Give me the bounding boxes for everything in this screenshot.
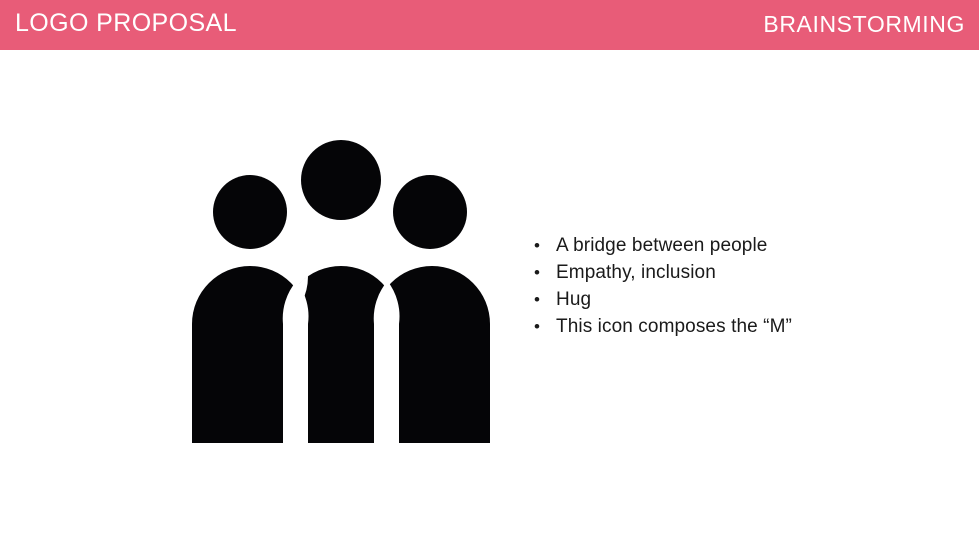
bullet-marker-icon: • bbox=[528, 232, 556, 259]
center-head-icon bbox=[301, 140, 381, 220]
slide-section-label: BRAINSTORMING bbox=[763, 10, 965, 38]
list-item: • A bridge between people bbox=[528, 232, 928, 259]
list-item: • Hug bbox=[528, 286, 928, 313]
bullet-list: • A bridge between people • Empathy, inc… bbox=[528, 232, 928, 340]
logo-mark bbox=[180, 130, 505, 455]
slide-canvas: LOGO PROPOSAL BRAINSTORMING bbox=[0, 0, 979, 549]
bullet-marker-icon: • bbox=[528, 313, 556, 340]
m-counter-right bbox=[374, 281, 400, 443]
three-people-m-logo-icon bbox=[180, 130, 505, 455]
bullet-marker-icon: • bbox=[528, 259, 556, 286]
m-counter-left bbox=[283, 281, 309, 443]
bullet-marker-icon: • bbox=[528, 286, 556, 313]
list-item-label: A bridge between people bbox=[556, 232, 767, 259]
header-bar: LOGO PROPOSAL BRAINSTORMING bbox=[0, 0, 979, 50]
slide-title: LOGO PROPOSAL bbox=[15, 8, 237, 38]
list-item: • Empathy, inclusion bbox=[528, 259, 928, 286]
right-head-icon bbox=[393, 175, 467, 249]
list-item: • This icon composes the “M” bbox=[528, 313, 928, 340]
list-item-label: This icon composes the “M” bbox=[556, 313, 792, 340]
left-head-icon bbox=[213, 175, 287, 249]
list-item-label: Empathy, inclusion bbox=[556, 259, 716, 286]
list-item-label: Hug bbox=[556, 286, 591, 313]
